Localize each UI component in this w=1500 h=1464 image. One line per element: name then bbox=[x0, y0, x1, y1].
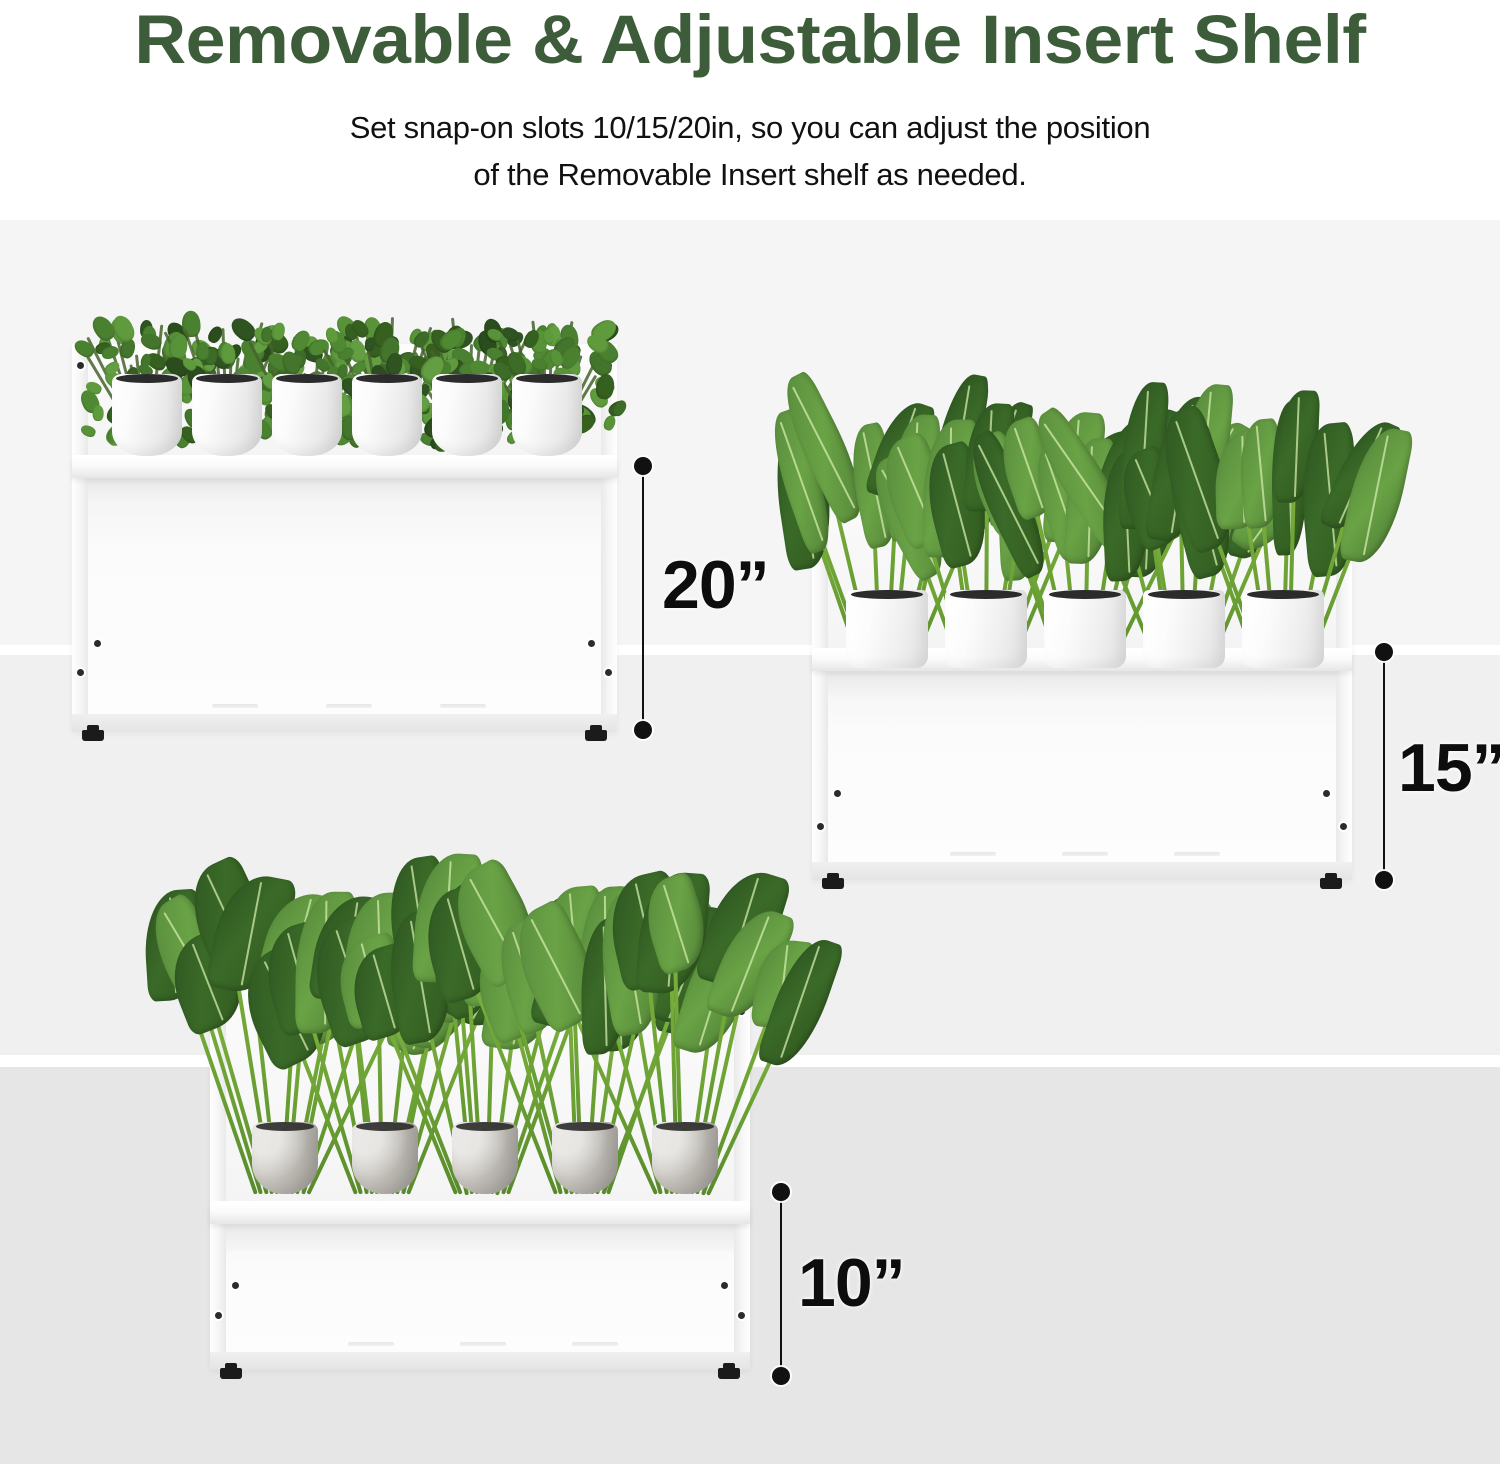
pot-vessel bbox=[652, 1122, 718, 1194]
pot-white-cylinder bbox=[1143, 590, 1225, 668]
dimension-line-stroke bbox=[1383, 652, 1385, 880]
pot-vessel bbox=[352, 374, 422, 456]
snap-on-slot-mark bbox=[440, 704, 486, 708]
plant-leaf bbox=[363, 336, 377, 353]
pot-soil-rim bbox=[196, 374, 258, 383]
page-title: Removable & Adjustable Insert Shelf bbox=[0, 2, 1500, 78]
dimension-cap-top bbox=[634, 457, 652, 475]
screw-dot bbox=[215, 1312, 222, 1319]
pot-white-cylinder bbox=[945, 590, 1027, 668]
shelf-interior-recess bbox=[88, 478, 601, 714]
screw-dot bbox=[721, 1282, 728, 1289]
dimension-cap-bottom bbox=[634, 721, 652, 739]
shelf-foot bbox=[1320, 878, 1342, 889]
shelf-base-rail bbox=[812, 862, 1352, 880]
pot-vessel bbox=[112, 374, 182, 456]
snap-on-slot-mark bbox=[212, 704, 258, 708]
removable-insert-shelf[interactable] bbox=[72, 458, 617, 478]
pot-stone-round bbox=[552, 1122, 618, 1194]
pot-vessel bbox=[192, 374, 262, 456]
screw-dot bbox=[588, 640, 595, 647]
pot-stone-round bbox=[652, 1122, 718, 1194]
pot-white-tapered bbox=[112, 374, 182, 456]
pot-vessel bbox=[1242, 590, 1324, 668]
screw-dot bbox=[232, 1282, 239, 1289]
shelf-foot bbox=[822, 878, 844, 889]
pot-vessel bbox=[452, 1122, 518, 1194]
pot-soil-rim bbox=[456, 1122, 514, 1131]
screw-dot bbox=[1340, 823, 1347, 830]
pot-vessel bbox=[552, 1122, 618, 1194]
dimension-line-10in bbox=[772, 1192, 790, 1376]
pot-vessel bbox=[512, 374, 582, 456]
pot-soil-rim bbox=[436, 374, 498, 383]
pot-soil-rim bbox=[116, 374, 178, 383]
pot-stone-round bbox=[252, 1122, 318, 1194]
shelf-foot bbox=[220, 1368, 242, 1379]
pot-white-tapered bbox=[272, 374, 342, 456]
shelf-foot bbox=[82, 730, 104, 741]
pot-soil-rim bbox=[276, 374, 338, 383]
plant-leaf bbox=[92, 405, 103, 421]
shelf-interior-recess bbox=[828, 671, 1336, 862]
shelf-foot bbox=[585, 730, 607, 741]
snap-on-slot-mark bbox=[326, 704, 372, 708]
dimension-line-20in bbox=[634, 466, 652, 730]
infographic-canvas: 20” 15” 10” Removable & Adjustable Inser… bbox=[0, 0, 1500, 1464]
dimension-label-15in: 15” bbox=[1398, 734, 1500, 802]
screw-dot bbox=[738, 1312, 745, 1319]
dimension-label-10in: 10” bbox=[798, 1249, 905, 1317]
pot-soil-rim bbox=[656, 1122, 714, 1131]
pot-white-cylinder bbox=[1044, 590, 1126, 668]
plant-leaf bbox=[412, 329, 433, 351]
pot-soil-rim bbox=[1148, 590, 1220, 599]
screw-dot bbox=[834, 790, 841, 797]
dimension-line-15in bbox=[1375, 652, 1393, 880]
pot-vessel bbox=[352, 1122, 418, 1194]
shelf-unit-20in bbox=[72, 344, 617, 732]
pot-vessel bbox=[1044, 590, 1126, 668]
pot-stone-round bbox=[352, 1122, 418, 1194]
dimension-line-stroke bbox=[780, 1192, 782, 1376]
plant-leaf bbox=[79, 424, 97, 440]
snap-on-slot-mark bbox=[950, 852, 996, 856]
page-subtitle-line-1: Set snap-on slots 10/15/20in, so you can… bbox=[0, 104, 1500, 151]
snap-on-slot-mark bbox=[1174, 852, 1220, 856]
pot-white-tapered bbox=[352, 374, 422, 456]
snap-on-slot-mark bbox=[1062, 852, 1108, 856]
pot-soil-rim bbox=[356, 374, 418, 383]
snap-on-slot-mark bbox=[460, 1342, 506, 1346]
dimension-cap-bottom bbox=[772, 1367, 790, 1385]
shelf-interior-recess bbox=[226, 1224, 734, 1352]
screw-dot bbox=[1323, 790, 1330, 797]
pot-stone-round bbox=[452, 1122, 518, 1194]
removable-insert-shelf[interactable] bbox=[210, 1204, 750, 1224]
dimension-line-stroke bbox=[642, 466, 644, 730]
pot-white-tapered bbox=[512, 374, 582, 456]
pot-soil-rim bbox=[256, 1122, 314, 1131]
header-block: Removable & Adjustable Insert Shelf Set … bbox=[0, 0, 1500, 220]
screw-dot bbox=[817, 823, 824, 830]
pot-soil-rim bbox=[950, 590, 1022, 599]
pot-vessel bbox=[432, 374, 502, 456]
plant-leaf bbox=[270, 321, 287, 342]
screw-dot bbox=[77, 669, 84, 676]
pot-soil-rim bbox=[356, 1122, 414, 1131]
pot-soil-rim bbox=[1247, 590, 1319, 599]
dimension-cap-top bbox=[772, 1183, 790, 1201]
pot-soil-rim bbox=[556, 1122, 614, 1131]
snap-on-slot-mark bbox=[572, 1342, 618, 1346]
dimension-label-20in: 20” bbox=[662, 551, 769, 619]
snap-on-slot-mark bbox=[348, 1342, 394, 1346]
shelf-base-rail bbox=[210, 1352, 750, 1370]
page-subtitle: Set snap-on slots 10/15/20in, so you can… bbox=[0, 104, 1500, 198]
dimension-cap-bottom bbox=[1375, 871, 1393, 889]
pot-vessel bbox=[846, 590, 928, 668]
pot-soil-rim bbox=[1049, 590, 1121, 599]
pot-vessel bbox=[252, 1122, 318, 1194]
screw-dot bbox=[605, 669, 612, 676]
pot-soil-rim bbox=[516, 374, 578, 383]
screw-dot bbox=[94, 640, 101, 647]
shelf-unit-15in bbox=[812, 455, 1352, 880]
shelf-foot bbox=[718, 1368, 740, 1379]
dimension-cap-top bbox=[1375, 643, 1393, 661]
pot-white-cylinder bbox=[1242, 590, 1324, 668]
shelf-unit-10in bbox=[210, 960, 750, 1370]
pot-soil-rim bbox=[851, 590, 923, 599]
pot-vessel bbox=[945, 590, 1027, 668]
pot-vessel bbox=[1143, 590, 1225, 668]
page-subtitle-line-2: of the Removable Insert shelf as needed. bbox=[0, 151, 1500, 198]
pot-white-cylinder bbox=[846, 590, 928, 668]
pot-white-tapered bbox=[432, 374, 502, 456]
shelf-base-rail bbox=[72, 714, 617, 732]
pot-vessel bbox=[272, 374, 342, 456]
pot-white-tapered bbox=[192, 374, 262, 456]
